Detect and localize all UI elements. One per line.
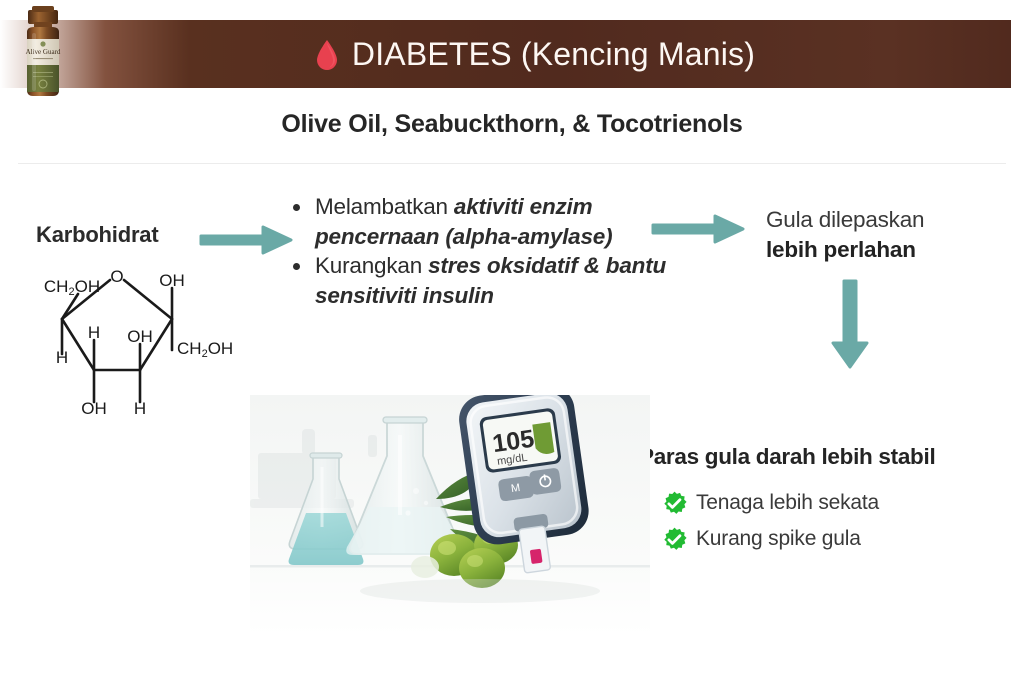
check-badge-icon [662, 527, 687, 552]
benefit-label: Tenaga lebih sekata [696, 491, 879, 515]
meter-memory-button[interactable]: M [510, 482, 521, 495]
svg-text:H: H [88, 323, 100, 342]
svg-text:CH2OH: CH2OH [177, 339, 232, 360]
release-text-plain: Gula dilepaskan [766, 207, 924, 232]
svg-text:OH: OH [81, 399, 107, 418]
product-bottle: Alive Guard [8, 2, 78, 106]
bullet-text-plain: Melambatkan [315, 194, 454, 219]
list-item: Melambatkan aktiviti enzim pencernaan (a… [288, 192, 668, 251]
header-banner: DIABETES (Kencing Manis) [0, 20, 1011, 88]
lab-scene-illustration: 105 mg/dL M [250, 395, 650, 635]
svg-text:O: O [110, 267, 123, 286]
arrow-right-icon [199, 219, 295, 261]
benefit-label: Kurang spike gula [696, 527, 861, 551]
svg-text:H: H [56, 348, 68, 367]
svg-text:H: H [134, 399, 146, 418]
list-item: Tenaga lebih sekata [662, 485, 1012, 521]
svg-text:OH: OH [159, 271, 185, 290]
blood-drop-icon [316, 40, 338, 70]
check-badge-icon [662, 491, 687, 516]
svg-text:OH: OH [127, 327, 153, 346]
benefits-list: Tenaga lebih sekata Kurang spike gula [662, 485, 1012, 557]
header-divider [18, 163, 1006, 164]
svg-text:CH2OH: CH2OH [44, 277, 100, 298]
subtitle: Olive Oil, Seabuckthorn, & Tocotrienols [0, 110, 1024, 139]
sugar-release-text: Gula dilepaskan lebih perlahan [766, 205, 1016, 265]
arrow-down-icon [818, 278, 882, 370]
carbohydrate-molecule-diagram: O CH2OH OH H H OH CH2OH OH H [32, 262, 232, 422]
svg-text:Alive Guard: Alive Guard [26, 48, 61, 56]
bullet-text-plain: Kurangkan [315, 253, 428, 278]
release-text-bold: lebih perlahan [766, 237, 916, 262]
benefits-heading: Paras gula darah lebih stabil [639, 444, 935, 470]
mechanism-bullet-list: Melambatkan aktiviti enzim pencernaan (a… [288, 192, 668, 311]
karbohidrat-label: Karbohidrat [36, 222, 158, 248]
list-item: Kurang spike gula [662, 521, 1012, 557]
slide-root: DIABETES (Kencing Manis) [0, 0, 1024, 683]
page-title: DIABETES (Kencing Manis) [352, 36, 755, 73]
list-item: Kurangkan stres oksidatif & bantu sensit… [288, 251, 668, 310]
